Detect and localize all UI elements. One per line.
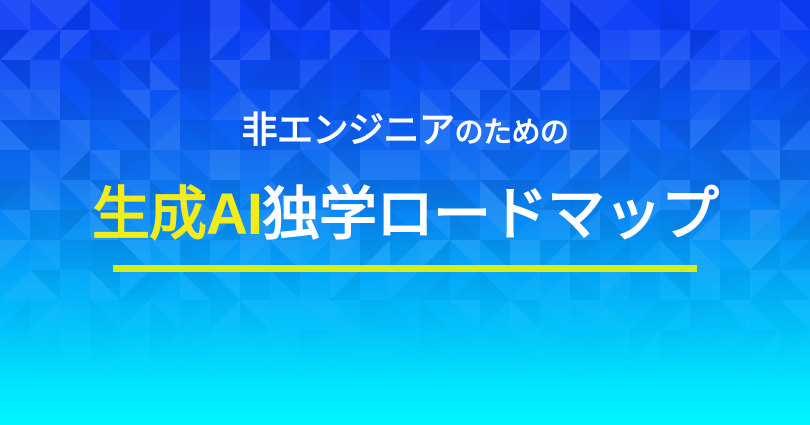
title-accent-text: 生成AI: [92, 182, 262, 247]
title-plain-text: 独学ロードマップ: [262, 182, 718, 247]
title-underline-rule: [113, 265, 697, 272]
promo-banner: 非エンジニアのための 生成AI独学ロードマップ: [0, 0, 810, 425]
banner-title: 生成AI独学ロードマップ: [0, 186, 810, 244]
banner-subtitle: 非エンジニアのための: [0, 112, 810, 148]
subtitle-lead-text: 非エンジニア: [241, 109, 454, 150]
banner-content: 非エンジニアのための 生成AI独学ロードマップ: [0, 0, 810, 425]
subtitle-tail-text: のための: [455, 117, 569, 149]
